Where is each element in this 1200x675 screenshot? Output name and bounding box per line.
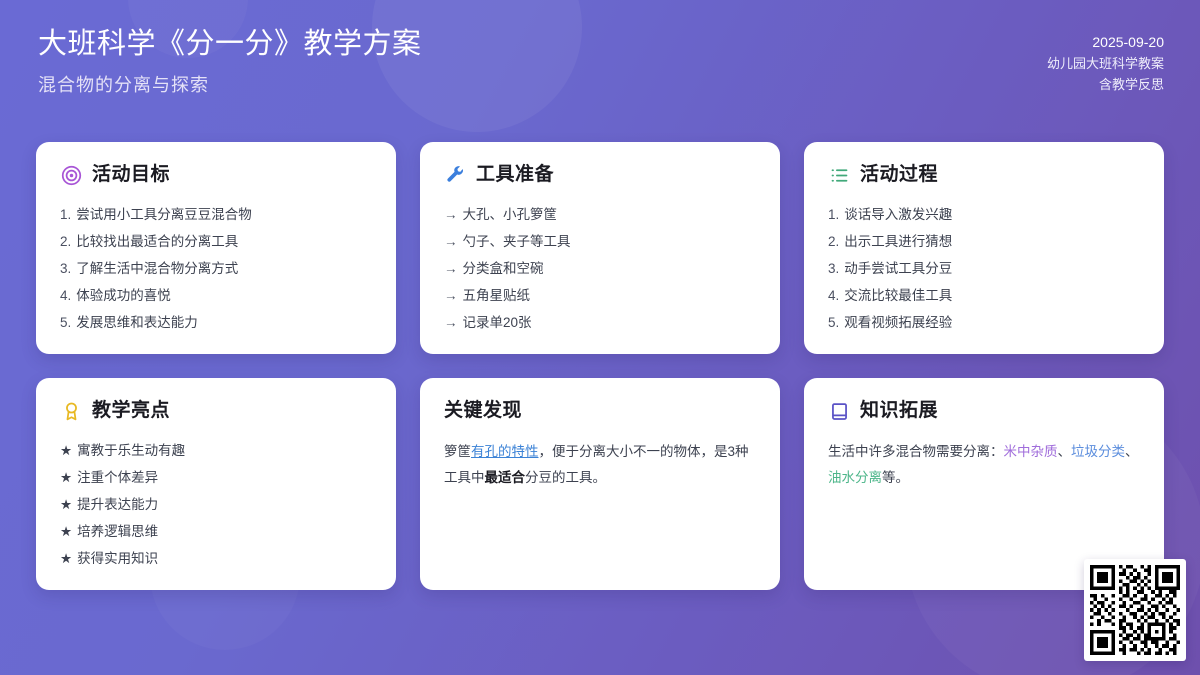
list-item: 4. 体验成功的喜悦: [60, 282, 372, 309]
list-item: 2. 比较找出最适合的分离工具: [60, 228, 372, 255]
list-item: ★ 寓教于乐生动有趣: [60, 437, 372, 464]
card-header: 活动过程: [828, 164, 1140, 187]
card-title: 活动目标: [92, 164, 170, 187]
card-header: 工具准备: [444, 164, 756, 187]
item-text: 分类盒和空碗: [463, 255, 544, 282]
item-text: 培养逻辑思维: [77, 518, 158, 545]
item-marker: 3.: [60, 255, 71, 282]
text-run: 生活中许多混合物需要分离：: [828, 444, 1004, 459]
key-finding-body: 箩筐有孔的特性，便于分离大小不一的物体，是3种工具中最适合分豆的工具。: [444, 439, 756, 491]
page-subtitle: 混合物的分离与探索: [38, 74, 422, 97]
header-meta: 2025-09-20 幼儿园大班科学教案 含教学反思: [1047, 26, 1164, 95]
list-item: 5. 观看视频拓展经验: [828, 309, 1140, 336]
list-item: 3. 动手尝试工具分豆: [828, 255, 1140, 282]
item-marker: ★: [60, 545, 72, 572]
card-header: 关键发现: [444, 400, 756, 423]
item-marker: ★: [60, 491, 72, 518]
card-title: 工具准备: [476, 164, 554, 187]
list-item: ★ 培养逻辑思维: [60, 518, 372, 545]
item-text: 注重个体差异: [77, 464, 158, 491]
item-marker: →: [444, 228, 458, 255]
card-activity-process: 活动过程 1. 谈话导入激发兴趣 2. 出示工具进行猜想 3. 动手尝试工具分豆…: [804, 142, 1164, 354]
meta-date: 2025-09-20: [1047, 32, 1164, 53]
list-item: → 大孔、小孔箩筐: [444, 201, 756, 228]
card-header: 知识拓展: [828, 400, 1140, 423]
text-run: 分豆的工具。: [525, 470, 606, 485]
item-text: 谈话导入激发兴趣: [844, 201, 952, 228]
wrench-icon: [444, 164, 466, 186]
item-text: 交流比较最佳工具: [844, 282, 952, 309]
text-run: 、: [1125, 444, 1139, 459]
item-marker: 2.: [60, 228, 71, 255]
book-icon: [828, 400, 850, 422]
item-marker: 3.: [828, 255, 839, 282]
text-run: 油水分离: [828, 470, 882, 485]
tool-list: → 大孔、小孔箩筐 → 勺子、夹子等工具 → 分类盒和空碗 → 五角星贴纸 →: [444, 201, 756, 336]
item-marker: 1.: [828, 201, 839, 228]
card-activity-goals: 活动目标 1. 尝试用小工具分离豆豆混合物 2. 比较找出最适合的分离工具 3.…: [36, 142, 396, 354]
item-marker: →: [444, 309, 458, 336]
item-marker: ★: [60, 464, 72, 491]
page-title: 大班科学《分一分》教学方案: [38, 26, 422, 64]
process-list: 1. 谈话导入激发兴趣 2. 出示工具进行猜想 3. 动手尝试工具分豆 4. 交…: [828, 201, 1140, 336]
card-key-finding: 关键发现 箩筐有孔的特性，便于分离大小不一的物体，是3种工具中最适合分豆的工具。: [420, 378, 780, 590]
item-text: 体验成功的喜悦: [76, 282, 171, 309]
item-marker: ★: [60, 437, 72, 464]
card-tool-preparation: 工具准备 → 大孔、小孔箩筐 → 勺子、夹子等工具 → 分类盒和空碗 → 五角星…: [420, 142, 780, 354]
item-text: 寓教于乐生动有趣: [77, 437, 185, 464]
card-title: 教学亮点: [92, 400, 170, 423]
list-item: → 五角星贴纸: [444, 282, 756, 309]
qr-code[interactable]: [1084, 559, 1186, 661]
goal-list: 1. 尝试用小工具分离豆豆混合物 2. 比较找出最适合的分离工具 3. 了解生活…: [60, 201, 372, 336]
item-text: 发展思维和表达能力: [76, 309, 198, 336]
text-run: 箩筐: [444, 444, 471, 459]
item-text: 了解生活中混合物分离方式: [76, 255, 238, 282]
item-marker: 4.: [828, 282, 839, 309]
list-item: 1. 尝试用小工具分离豆豆混合物: [60, 201, 372, 228]
card-header: 活动目标: [60, 164, 372, 187]
card-header: 教学亮点: [60, 400, 372, 423]
item-text: 记录单20张: [463, 309, 532, 336]
item-text: 五角星贴纸: [463, 282, 531, 309]
text-run: 、: [1058, 444, 1072, 459]
item-text: 动手尝试工具分豆: [844, 255, 952, 282]
card-title: 知识拓展: [860, 400, 938, 423]
item-marker: 1.: [60, 201, 71, 228]
medal-icon: [60, 400, 82, 422]
item-text: 大孔、小孔箩筐: [463, 201, 558, 228]
meta-category: 幼儿园大班科学教案: [1047, 53, 1164, 74]
item-text: 提升表达能力: [77, 491, 158, 518]
item-marker: →: [444, 282, 458, 309]
list-item: → 勺子、夹子等工具: [444, 228, 756, 255]
meta-note: 含教学反思: [1047, 74, 1164, 95]
text-run: 等。: [882, 470, 909, 485]
list-item: → 记录单20张: [444, 309, 756, 336]
list-item: ★ 注重个体差异: [60, 464, 372, 491]
item-text: 出示工具进行猜想: [844, 228, 952, 255]
list-icon: [828, 164, 850, 186]
target-icon: [60, 164, 82, 186]
slide-root: 大班科学《分一分》教学方案 混合物的分离与探索 2025-09-20 幼儿园大班…: [0, 0, 1200, 675]
text-run: 最适合: [485, 470, 526, 485]
list-item: 5. 发展思维和表达能力: [60, 309, 372, 336]
list-item: 3. 了解生活中混合物分离方式: [60, 255, 372, 282]
list-item: ★ 提升表达能力: [60, 491, 372, 518]
text-run[interactable]: 有孔的特性: [471, 444, 539, 459]
card-teaching-highlights: 教学亮点 ★ 寓教于乐生动有趣 ★ 注重个体差异 ★ 提升表达能力 ★ 培养逻辑…: [36, 378, 396, 590]
knowledge-body: 生活中许多混合物需要分离：米中杂质、垃圾分类、油水分离等。: [828, 439, 1140, 491]
item-marker: 5.: [828, 309, 839, 336]
card-grid: 活动目标 1. 尝试用小工具分离豆豆混合物 2. 比较找出最适合的分离工具 3.…: [36, 142, 1164, 590]
item-marker: →: [444, 201, 458, 228]
item-marker: 4.: [60, 282, 71, 309]
item-text: 尝试用小工具分离豆豆混合物: [76, 201, 252, 228]
list-item: → 分类盒和空碗: [444, 255, 756, 282]
text-run: 垃圾分类: [1071, 444, 1125, 459]
text-run: 米中杂质: [1004, 444, 1058, 459]
item-text: 获得实用知识: [77, 545, 158, 572]
list-item: 2. 出示工具进行猜想: [828, 228, 1140, 255]
item-text: 比较找出最适合的分离工具: [76, 228, 238, 255]
item-text: 观看视频拓展经验: [844, 309, 952, 336]
title-block: 大班科学《分一分》教学方案 混合物的分离与探索: [36, 26, 422, 97]
item-marker: 2.: [828, 228, 839, 255]
highlight-list: ★ 寓教于乐生动有趣 ★ 注重个体差异 ★ 提升表达能力 ★ 培养逻辑思维 ★: [60, 437, 372, 572]
qr-code-image: [1090, 565, 1180, 655]
card-title: 关键发现: [444, 400, 522, 423]
item-text: 勺子、夹子等工具: [463, 228, 571, 255]
item-marker: →: [444, 255, 458, 282]
card-title: 活动过程: [860, 164, 938, 187]
slide-header: 大班科学《分一分》教学方案 混合物的分离与探索 2025-09-20 幼儿园大班…: [0, 0, 1200, 128]
item-marker: 5.: [60, 309, 71, 336]
item-marker: ★: [60, 518, 72, 545]
list-item: ★ 获得实用知识: [60, 545, 372, 572]
list-item: 1. 谈话导入激发兴趣: [828, 201, 1140, 228]
list-item: 4. 交流比较最佳工具: [828, 282, 1140, 309]
